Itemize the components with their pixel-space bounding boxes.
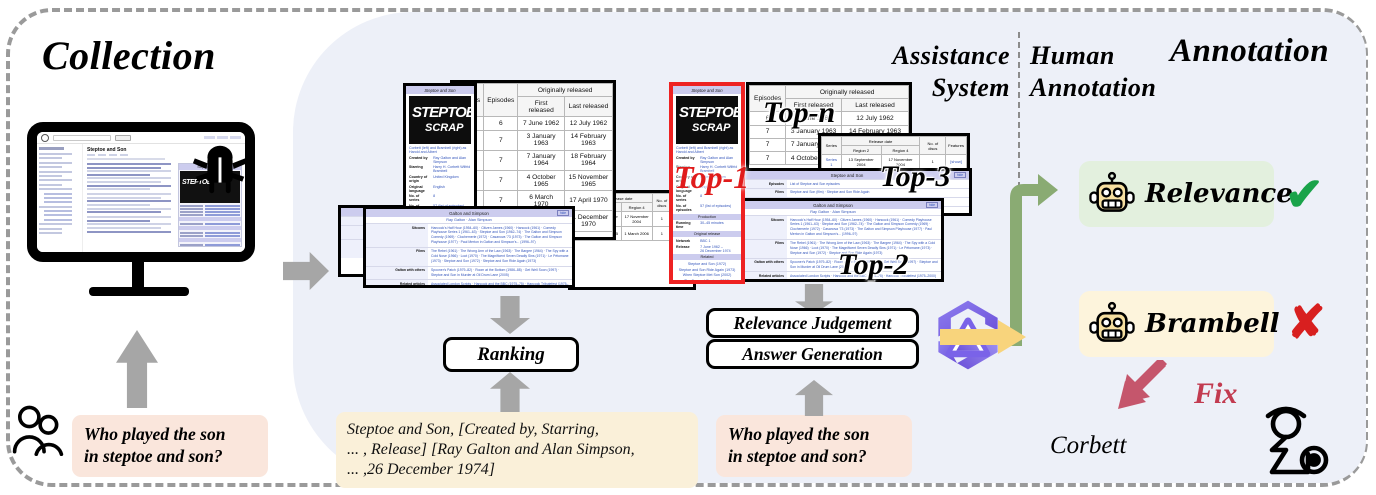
- answer-generation-box[interactable]: Answer Generation: [706, 339, 919, 369]
- cell-last: 12 July 1962: [564, 117, 612, 130]
- wiki-search-input[interactable]: [53, 135, 111, 141]
- cell-r2: 13 September 2004: [841, 155, 881, 169]
- nav-row-value: Hancock's Half Hour (1954–60) · Citizen …: [787, 216, 941, 239]
- infobox-value: 30–45 minutes: [700, 221, 738, 229]
- robot-icon: [1089, 301, 1135, 347]
- rank-label-topn: Top-n: [763, 96, 835, 130]
- infobox-value: 8: [433, 194, 471, 202]
- monitor-stand-neck: [132, 262, 144, 290]
- poster-text-2: SCRAP: [692, 122, 731, 134]
- infobox-value: BBC 1: [700, 239, 738, 243]
- fix-arrow-icon: [1112, 360, 1174, 422]
- release-col-r4: Region 4: [621, 203, 652, 212]
- cell-first: 3 January 1963: [518, 130, 565, 150]
- infobox-related-header: Related: [673, 254, 741, 260]
- infobox-value: 7 June 1962 – 26 December 1974: [700, 245, 738, 253]
- infobox-caption: Corbett (left) and Brambell (right) as H…: [673, 145, 741, 155]
- cell-last: 15 November 1965: [564, 170, 612, 190]
- cell-episodes: 7: [484, 150, 518, 170]
- rank-label-top1: Top-1: [674, 159, 749, 196]
- cell-last: 18 February 1964: [564, 150, 612, 170]
- verdict-cross-icon: ✘: [1287, 300, 1326, 346]
- nav-row-key: Galton with others: [366, 267, 428, 280]
- col-episodes: Episodes: [484, 84, 518, 117]
- infobox-key: Network: [676, 239, 697, 243]
- infobox-production-header: Production: [673, 214, 741, 220]
- cell-episodes: 7: [484, 170, 518, 190]
- infobox-title: Steptoe and Son: [406, 86, 474, 94]
- infobox-key: Original language: [409, 185, 430, 193]
- poster-text-1: STEPTOE: [679, 104, 738, 121]
- ranking-box[interactable]: Ranking: [443, 337, 579, 372]
- annotation-card-label: Brambell: [1145, 309, 1280, 339]
- wiki-article-text: [87, 163, 175, 247]
- document-top2-galton-simpson-nav: Galton and Simpson hide Ray Galton · Ala…: [722, 198, 944, 282]
- infobox-key: No. of episodes: [676, 204, 697, 212]
- monitor: Steptoe and Son Steptoe and Son: [27, 122, 267, 307]
- nav-title-text: Galton and Simpson: [813, 203, 853, 208]
- cell-first: 7 June 1962: [518, 117, 565, 130]
- hide-link[interactable]: hide: [926, 202, 938, 208]
- release-col-features: Features: [946, 137, 967, 155]
- nav-row-value: Hancock's Half Hour (1954–60) · Citizen …: [428, 224, 572, 247]
- fix-label: Fix: [1194, 377, 1237, 411]
- user-group-icon: [10, 404, 66, 456]
- bug-icon: [189, 138, 251, 200]
- infobox-poster: STEPTOE SCRAP: [409, 96, 471, 144]
- robot-icon: [1089, 171, 1135, 217]
- infobox-key: Release: [676, 245, 697, 253]
- infobox-related-links[interactable]: Steptoe and Son (1972) Steptoe and Son R…: [673, 261, 741, 284]
- cell-episodes: 7: [484, 130, 518, 150]
- nav-title: Galton and Simpson hide: [725, 201, 941, 209]
- cell-r4: 1 March 2006: [621, 226, 652, 240]
- release-col-r2: Region 2: [841, 146, 881, 155]
- hide-link[interactable]: hide: [954, 172, 966, 178]
- infobox-key: Starring: [409, 165, 430, 173]
- infobox-title: Steptoe and Son: [673, 86, 741, 94]
- related-link[interactable]: The Curse of Steptoe (2008): [675, 279, 739, 284]
- annotation-card-relevance[interactable]: Relevance: [1079, 161, 1274, 227]
- related-link[interactable]: When Steptoe Met Son (2002): [675, 273, 739, 278]
- release-col-discs: No. of discs: [920, 137, 946, 155]
- monitor-screen: Steptoe and Son Steptoe and Son: [27, 122, 255, 262]
- cell-first: 4 October 1965: [518, 170, 565, 190]
- annotation-card-label: Relevance: [1145, 179, 1293, 209]
- user-question-left: Who played the son in steptoe and son?: [72, 415, 268, 477]
- nav-row-value: The Rebel (1961) · The Wrong Arm of the …: [428, 248, 572, 266]
- nav-title: Galton and Simpson hide: [366, 209, 572, 217]
- infobox-key: Running time: [676, 221, 697, 229]
- infobox-value: United Kingdom: [433, 175, 471, 183]
- infobox-value: English: [433, 185, 471, 193]
- col-first-released: First released: [518, 97, 565, 117]
- infobox-key: Created by: [409, 156, 430, 164]
- corrected-answer-label: Corbett: [1050, 432, 1126, 460]
- cell-last: 14 February 1963: [564, 130, 612, 150]
- cell-r4: 17 November 2004: [621, 212, 652, 226]
- cell-episodes: 7: [750, 138, 786, 151]
- relevance-judgement-box[interactable]: Relevance Judgement: [706, 308, 919, 338]
- nav-title-text: Steptoe and Son: [831, 173, 864, 178]
- infobox-caption: Corbett (left) and Brambell (right) as H…: [406, 145, 474, 155]
- annotator-icon: [1256, 398, 1330, 476]
- section-title-collection: Collection: [42, 32, 216, 79]
- nav-row-value: Spooner's Patch (1979–82) · Room at the …: [428, 267, 572, 280]
- col-originally-released: Originally released: [518, 84, 613, 97]
- arrow-route-to-brambell: [940, 320, 1026, 354]
- col-last-released: Last released: [564, 97, 612, 117]
- infobox-value: 57 (list of episodes): [700, 204, 738, 212]
- infobox-value: Harry H. Corbett Wilfrid Brambell: [433, 165, 471, 173]
- section-title-human-annotation: Human Annotation: [1030, 40, 1156, 103]
- hide-link[interactable]: hide: [557, 210, 569, 216]
- infobox-key: No. of series: [409, 194, 430, 202]
- release-col-group: Release date: [841, 137, 920, 146]
- infobox-poster: STEPTOE SCRAP: [676, 96, 738, 144]
- cell-episodes: 6: [484, 117, 518, 130]
- poster-text-2: SCRAP: [425, 122, 464, 134]
- nav-row-key: Sitcoms: [366, 224, 428, 247]
- cell-first: 7 January 1964: [518, 150, 565, 170]
- release-col-series: Series: [822, 137, 842, 155]
- poster-text-1: STEPTOE: [412, 104, 471, 121]
- col-last-released: Last released: [841, 99, 908, 112]
- infobox-release-header: Original release: [673, 231, 741, 237]
- nav-row-key: Related articles: [366, 280, 428, 288]
- cell-series: Series 1: [822, 155, 842, 169]
- section-title-annotation: Annotation: [1170, 33, 1329, 70]
- cell-episodes: 7: [750, 151, 786, 164]
- verdict-check-icon: ✔: [1285, 172, 1324, 218]
- rank-label-top2: Top-2: [838, 248, 909, 282]
- serialized-document-box: Steptoe and Son, [Created by, Starring, …: [336, 412, 698, 488]
- user-question-right: Who played the son in steptoe and son?: [716, 415, 912, 477]
- wiki-search-button[interactable]: [115, 135, 131, 141]
- nav-row-key: Films: [366, 248, 428, 266]
- wikipedia-logo-icon: [41, 134, 49, 142]
- nav-row-value: Associated London Scripts · Hancock and …: [428, 280, 572, 288]
- infobox-value: Ray Galton and Alan Simpson: [433, 156, 471, 164]
- wiki-sidebar[interactable]: [37, 144, 83, 252]
- rank-label-top3: Top-3: [880, 160, 951, 194]
- monitor-stand-base: [89, 287, 189, 296]
- annotation-card-brambell[interactable]: Brambell: [1079, 291, 1274, 357]
- wiki-subtitle: [87, 158, 165, 160]
- document-galton-simpson-nav-front: Galton and Simpson hide Ray Galton · Ala…: [363, 206, 575, 288]
- infobox-key: Country of origin: [409, 175, 430, 183]
- release-col-r4: Region 4: [881, 146, 920, 155]
- nav-title-text: Galton and Simpson: [449, 211, 489, 216]
- cell-last: 12 July 1962: [841, 112, 908, 125]
